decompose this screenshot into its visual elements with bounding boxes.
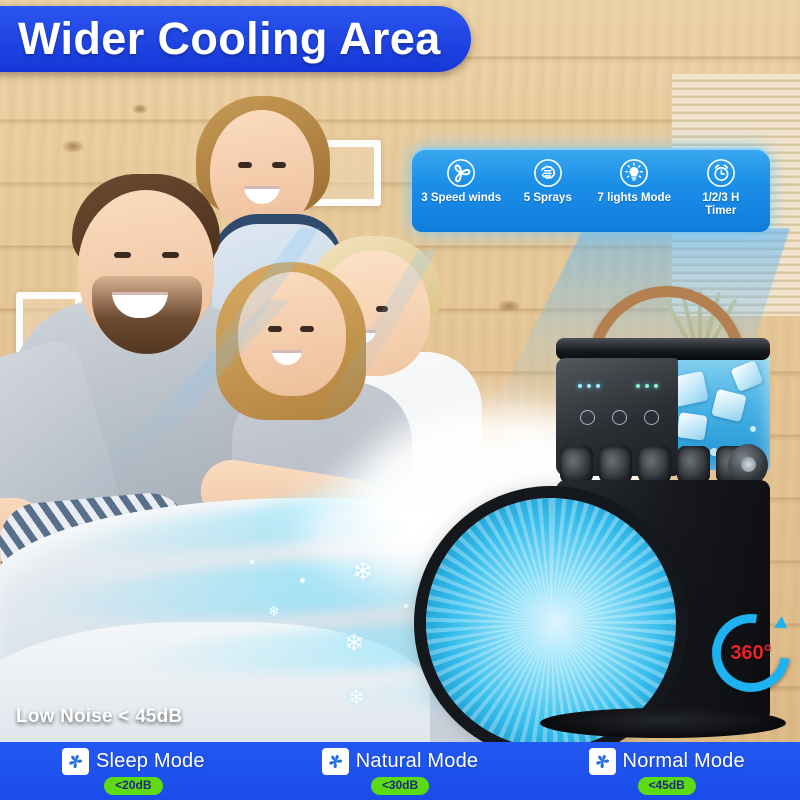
fan-wheel	[426, 498, 676, 742]
mode-bar: Sleep Mode <20dB	[0, 742, 800, 800]
feature-label: 1/2/3 H Timer	[702, 192, 739, 218]
snowflake-icon: ❄	[344, 632, 364, 656]
snowflake-icon: ❄	[348, 688, 365, 708]
mode-item-sleep[interactable]: Sleep Mode <20dB	[0, 748, 267, 795]
feature-bar: 3 Speed winds 5 Sprays	[412, 148, 770, 232]
spray-nozzle	[638, 446, 671, 483]
lightbulb-icon	[619, 158, 649, 188]
mode-name: Natural Mode	[356, 750, 478, 773]
wood-knot	[132, 104, 148, 114]
feature-label: 3 Speed winds	[421, 192, 501, 205]
low-noise-label: Low Noise < 45dB	[16, 706, 182, 728]
mode-db-badge: <30dB	[371, 777, 429, 795]
feature-item-lights-mode[interactable]: 7 lights Mode	[591, 158, 678, 205]
feature-item-sprays[interactable]: 5 Sprays	[505, 158, 592, 205]
lifestyle-photo-scene: ❄ ❄ ❄ ❄ ❄ ❄ ❄ ❄ ❄	[0, 0, 800, 742]
panel-button[interactable]	[580, 410, 595, 425]
feature-item-timer[interactable]: 1/2/3 H Timer	[678, 158, 765, 218]
title-banner: Wider Cooling Area	[0, 6, 471, 72]
fan-grill	[426, 498, 676, 742]
spray-nozzle	[599, 446, 632, 483]
snowflake-icon: ❄	[268, 604, 280, 618]
mode-db-badge: <45dB	[638, 777, 696, 795]
ice-cube	[711, 389, 747, 422]
spray-icon	[533, 158, 563, 188]
mode-db-badge: <20dB	[104, 777, 162, 795]
feature-label: 7 lights Mode	[598, 192, 671, 205]
wood-knot	[498, 300, 520, 312]
product-marketing-image: ❄ ❄ ❄ ❄ ❄ ❄ ❄ ❄ ❄	[0, 0, 800, 800]
360-label: 360°	[712, 614, 790, 692]
panel-button[interactable]	[644, 410, 659, 425]
page-title: Wider Cooling Area	[18, 13, 441, 65]
mode-item-normal[interactable]: Normal Mode <45dB	[533, 748, 800, 795]
panel-button[interactable]	[612, 410, 627, 425]
fan-spiral-icon	[62, 748, 89, 775]
sparkle	[300, 578, 305, 583]
mode-item-natural[interactable]: Natural Mode <30dB	[267, 748, 534, 795]
top-rim	[556, 338, 770, 360]
mode-name: Sleep Mode	[96, 750, 205, 773]
sparkle	[250, 560, 254, 564]
alarm-clock-icon	[706, 158, 736, 188]
feature-label-line1: 1/2/3 H	[702, 192, 739, 204]
feature-label: 5 Sprays	[524, 192, 572, 205]
360-rotation-badge: 360°	[712, 614, 790, 692]
ice-cube	[730, 360, 763, 392]
feature-item-speed-winds[interactable]: 3 Speed winds	[418, 158, 505, 205]
wood-knot	[62, 140, 84, 153]
spray-nozzle	[677, 446, 710, 483]
cooler-base	[540, 708, 786, 738]
fan-icon	[446, 158, 476, 188]
mode-name: Normal Mode	[623, 750, 745, 773]
feature-label-line2: Timer	[705, 205, 736, 217]
fan-spiral-icon	[589, 748, 616, 775]
spray-nozzle	[560, 446, 593, 483]
ice-cube	[676, 412, 707, 441]
sparkle	[404, 604, 408, 608]
snowflake-icon: ❄	[352, 558, 374, 584]
fan-spiral-icon	[322, 748, 349, 775]
